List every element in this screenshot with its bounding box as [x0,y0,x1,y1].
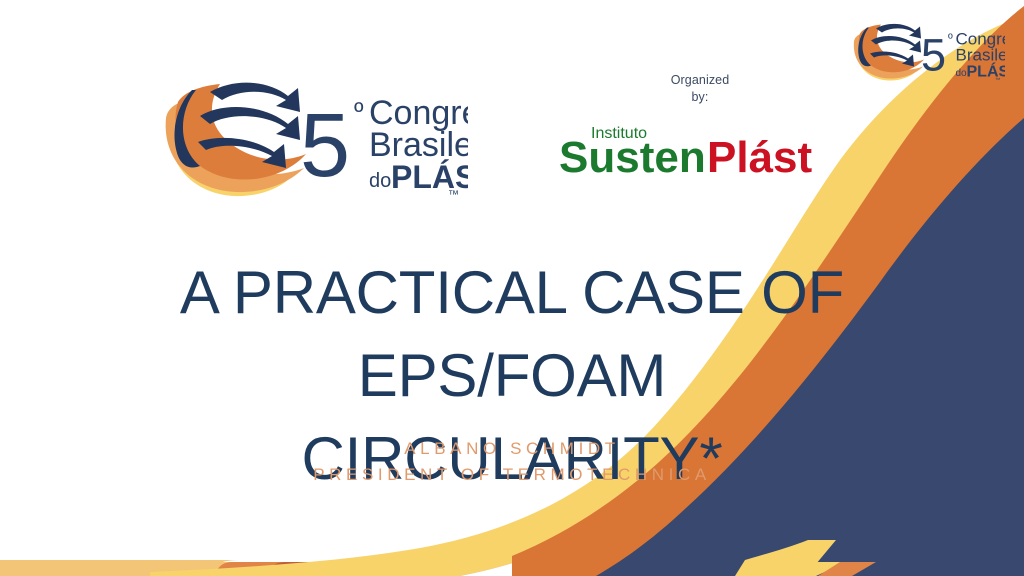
logo-prefix-do: do [369,170,391,192]
congress-logo: 5 º Congresso Brasileiro do PLÁSTICO ™ [148,72,468,198]
logo-wordmark: 5 º Congresso Brasileiro do PLÁSTICO ™ [300,94,468,198]
logo-trademark-icon: ™ [448,189,459,198]
sponsor-logo-sustenplast: Instituto Susten Plást [530,120,870,182]
logo-swirl-mark [166,83,306,196]
speaker-role: PRESIDENT OF TERMOTECHNICA [40,462,984,488]
speaker-block: ALBANO SCHMIDT PRESIDENT OF TERMOTECHNIC… [40,436,984,489]
sponsor-logo-susten: Susten [559,133,706,182]
organized-by-block: Organized by: Instituto Susten Plást [530,72,870,182]
sponsor-logo-plast: Plást [707,133,813,182]
speaker-name: ALBANO SCHMIDT [40,436,984,462]
corner-logo-number: 5 [921,30,946,81]
corner-logo-wordmark: 5 º Congresso Brasileiro do PLÁSTICO ™ [921,30,1005,83]
title-line-1: A PRACTICAL CASE OF EPS/FOAM [40,252,984,418]
corner-logo-ordinal: º [948,31,953,46]
corner-logo-trademark-icon: ™ [995,78,1001,83]
logo-ordinal: º [354,96,364,126]
corner-logo-line-brasileiro: Brasileiro [956,46,1006,65]
organized-by-line2: by: [530,89,870,106]
corner-logo-prefix-do: do [956,68,968,79]
presentation-slide: 5 º Congresso Brasileiro do PLÁSTICO ™ [0,0,1024,576]
organized-by-line1: Organized [530,72,870,89]
logo-number: 5 [300,96,350,196]
